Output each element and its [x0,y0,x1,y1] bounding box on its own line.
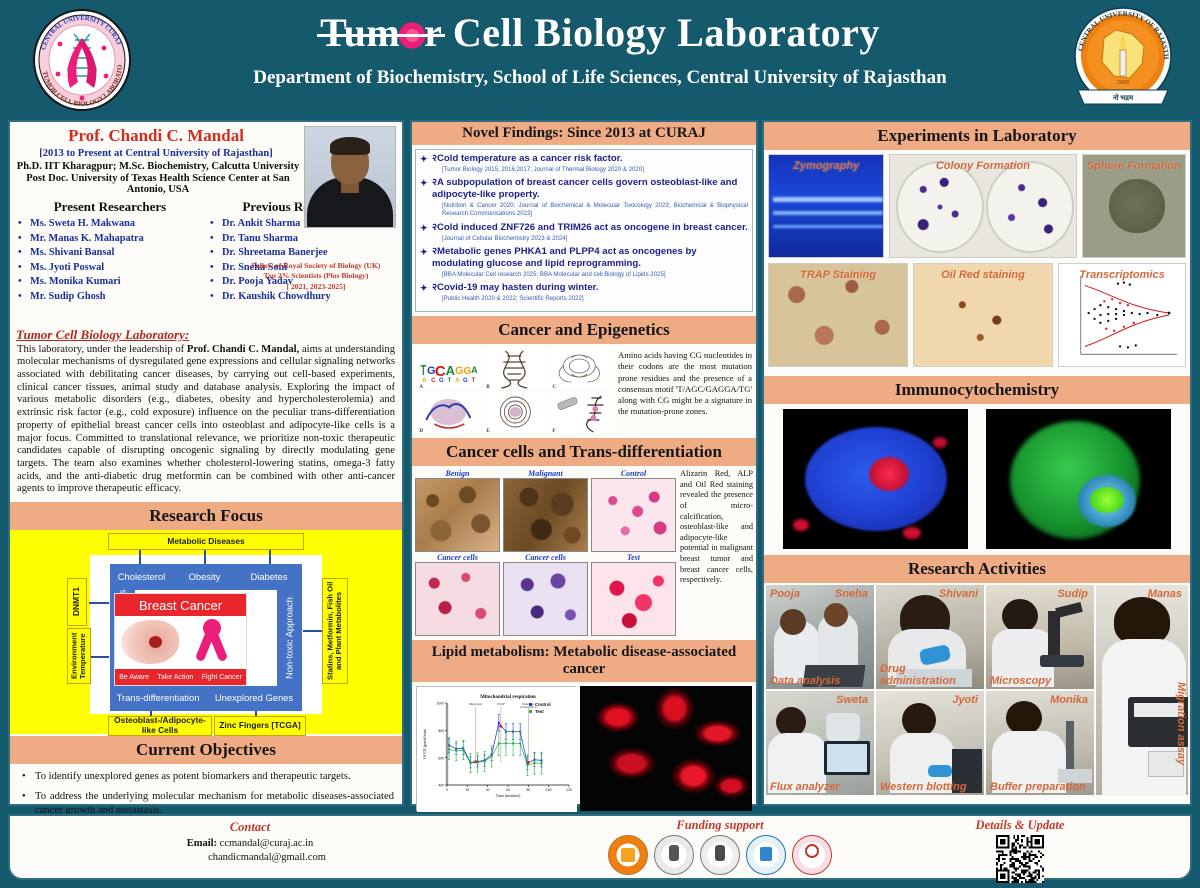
figure-dna-helix: B [483,348,548,390]
activity-label: Flux analyzer [770,781,840,793]
rf-metabolic-diseases: Metabolic Diseases [108,533,304,550]
svg-text:0: 0 [446,788,448,792]
research-focus-band: Research Focus [10,502,402,530]
update-block: Details & Update [890,818,1150,883]
trans-differentiation-body: Benign Malignant Control [412,466,756,640]
activity-photo-microscopy: Sudip Microscopy [986,585,1094,689]
svg-text:2009: 2009 [1117,80,1129,86]
title-pre: Tum [320,10,400,55]
icmr-seal-icon [746,835,786,875]
breast-cancer-card: Breast Cancer Be Aware Take Action Fight… [114,593,247,686]
current-objectives-band: Current Objectives [10,736,402,764]
fellow-line-3: [ 2021, 2023-2025] [236,282,396,293]
researcher-name: Monika [1050,694,1088,706]
funding-block: Funding support [570,818,870,875]
tag-fight-cancer: Fight Cancer [202,674,242,681]
finding-citation: [BBA Molecular Cell research 2025; BBA M… [420,271,748,279]
svg-text:Control: Control [535,702,551,707]
novel-findings-box: ✦Cold temperature as a cancer risk facto… [415,149,753,312]
professor-photo [304,126,396,228]
poster-header: CENTRAL UNIVERSITY CURAJ TUMOR CELL BIOL… [0,0,1200,120]
research-focus-section: Research Focus Metabolic Diseases Choles… [10,502,402,734]
lipid-metabolism-body: Mitochondrial respiration400600800100002… [412,682,756,815]
funding-heading: Funding support [570,818,870,833]
stain-cancer-cells-alizarin [415,562,500,636]
list-item: ✦A subpopulation of breast cancer cells … [420,177,748,218]
experiment-label: TRAP Staining [769,269,907,281]
title-struck-word: Tum r [320,10,442,56]
activity-label: Data analysis [770,675,840,687]
stain-test-oil-red [591,562,676,636]
mitochondrial-respiration-chart: Mitochondrial respiration400600800100002… [416,686,576,811]
present-researchers: Present Researchers Ms. Sweta H. Makwana… [14,199,206,305]
svg-text:T: T [447,378,451,384]
svg-text:OCCR (pmol/min): OCCR (pmol/min) [422,728,427,759]
image-label: Benign [415,469,500,478]
finding-text: ✦Metabolic genes PHKA1 and PLPP4 act as … [420,246,748,270]
lipid-droplet-fluorescence-image [580,686,752,811]
svg-text:1000: 1000 [436,702,444,706]
trans-differentiation-band: Cancer cells and Trans-differentiation [412,438,756,466]
rf-statins-metformin: Statins, Metformin, Fish Oil and Plant M… [322,578,348,684]
svg-text:A: A [471,365,478,375]
svg-text:G: G [463,378,468,384]
list-item: To address the underlying molecular mech… [18,790,394,816]
list-item: Dr. Tanu Sharma [206,232,398,247]
rf-diabetes: Diabetes [236,564,302,590]
page-title: Tum r Cell Biology Laboratory [160,10,1040,56]
experiment-colony-formation: Colony Formation [889,154,1076,258]
ugc-seal-icon [792,835,832,875]
professor-block: Prof. Chandi C. Mandal [2013 to Present … [10,122,402,195]
experiment-label: Colony Formation [890,160,1075,172]
stain-cancer-cells-alp [503,562,588,636]
breast-cancer-tags: Be Aware Take Action Fight Cancer [115,669,246,685]
svg-text:A: A [419,385,423,390]
svg-text:800: 800 [438,729,444,733]
finding-citation: [Journal of Cellular Biochemistry 2023 &… [420,235,748,243]
finding-text: ✦Cold induced ZNF726 and TRIM26 act as o… [420,222,748,234]
novel-findings-band: Novel Findings: Since 2013 at CURAJ [412,122,756,145]
list-item: Ms. Shivani Bansal [14,246,206,261]
svg-text:G: G [439,378,444,384]
qr-code[interactable] [996,835,1044,883]
svg-text:C: C [553,385,557,390]
svg-text:नो भद्रम: नो भद्रम [1112,93,1134,102]
immunocytochemistry-band: Immunocytochemistry [764,376,1190,404]
list-item: Ms. Monika Kumari [14,275,206,290]
activity-photo-flux-analyzer: Sweta Flux analyzer [766,691,874,795]
svg-text:400: 400 [438,784,444,788]
svg-text:Mitochondrial respiration: Mitochondrial respiration [480,695,536,700]
rf-trans-differentiation: Trans-differentiation [110,686,206,711]
figure-sequence-logo: T G C A G G A A C G T A [416,348,481,390]
activity-photo-migration-assay: Manas Migration assay [1096,585,1188,795]
lab-heading: Tumor Cell Biology Laboratory: [16,327,396,343]
svg-text:Test: Test [535,709,544,714]
finding-text: ✦Covid-19 may hasten during winter. [420,282,748,294]
svg-text:40: 40 [486,788,490,792]
epigenetics-description: Amino acids having CG nucleotides in the… [618,348,752,434]
list-item: Mr. Manas K. Mahapatra [14,232,206,247]
svg-text:Time (minutes): Time (minutes) [496,793,521,798]
experiment-oil-red-staining: Oil Red staining [913,263,1053,367]
rf-unexplored-genes: Unexplored Genes [206,686,302,711]
image-label: Control [591,469,676,478]
contact-block: Contact Email: ccmandal@curaj.ac.in chan… [130,820,370,863]
list-item: Mr. Sudip Ghosh [14,290,206,305]
curaj-seal-icon [608,835,648,875]
experiments-band: Experiments in Laboratory [764,122,1190,150]
figure-protein-structure-c: C [549,348,614,390]
activity-photo-western-blotting: Jyoti Western blotting [876,691,984,795]
title-post: r [424,10,442,55]
rf-zinc-fingers: Zinc Fingers [TCGA] [214,716,306,736]
experiment-trap-staining: TRAP Staining [768,263,908,367]
figure-dna-binding-f: F [549,392,614,434]
list-item: Dr. Ankit Sharma [206,217,398,232]
tag-be-aware: Be Aware [119,674,149,681]
icc-image-dapi-nucleus [783,409,968,549]
image-label: Test [591,553,676,562]
image-label: Cancer cells [503,553,588,562]
list-item: To identify unexplored genes as potent b… [18,770,394,783]
svg-text:60: 60 [506,788,510,792]
tumor-cell-biology-laboratory-logo: CENTRAL UNIVERSITY CURAJ TUMOR CELL BIOL… [30,8,135,113]
diamond-bullet-icon: ✦ [420,223,428,234]
activity-label: Buffer preparation [990,781,1086,793]
breast-cancer-title: Breast Cancer [115,594,246,616]
researcher-name: Sudip [1057,588,1088,600]
lab-description: This laboratory, under the leadership of… [17,344,395,496]
image-label: Cancer cells [415,553,500,562]
immunocytochemistry-body [764,404,1190,555]
column-middle: Novel Findings: Since 2013 at CURAJ ✦Col… [410,120,758,806]
experiment-label: Zymography [769,160,883,172]
list-item: ✦Cold induced ZNF726 and TRIM26 act as o… [420,222,748,243]
experiment-transcriptomics: Transcriptomics [1058,263,1186,367]
column-right: Experiments in Laboratory Zymography Col… [762,120,1192,806]
icc-image-gfp-cytoplasm [986,409,1171,549]
svg-text:100: 100 [546,788,552,792]
svg-text:20: 20 [465,788,469,792]
diamond-bullet-icon: ✦ [420,178,428,189]
epigenetics-figure-grid: T G C A G G A A C G T A [416,348,614,434]
pink-ribbon-icon [190,618,232,668]
activity-label: Drug administration [880,663,984,687]
svg-text:FCCP: FCCP [497,702,505,706]
finding-text: ✦Cold temperature as a cancer risk facto… [420,153,748,165]
svg-text:600: 600 [438,756,444,760]
svg-text:Oligomycin: Oligomycin [469,702,483,706]
list-item: Ms. Jyoti Poswal [14,261,206,276]
rf-obesity: Obesity [173,564,236,590]
svg-text:G: G [455,365,464,377]
researcher-name: Jyoti [952,694,978,706]
experiment-label: Oil Red staining [914,269,1052,281]
poster-root: CENTRAL UNIVERSITY CURAJ TUMOR CELL BIOL… [0,0,1200,887]
contact-heading: Contact [130,820,370,835]
lab-desc-part1: This laboratory, under the leadership of [17,344,187,355]
activity-photo-data-analysis: Pooja Sneha Data analysis [766,585,874,689]
rf-cholesterol: Cholesterol [110,564,173,590]
svg-text:T: T [421,362,427,379]
central-university-of-rajasthan-logo: CENTRAL UNIVERSITY OF RAJASTHAN 2009 नो … [1068,4,1178,116]
contact-email-2[interactable]: chandicmandal@gmail.com [130,852,370,863]
lipid-metabolism-band: Lipid metabolism: Metabolic disease-asso… [412,640,756,682]
list-item: ✦Metabolic genes PHKA1 and PLPP4 act as … [420,246,748,279]
cancer-epigenetics-body: T G C A G G A A C G T A [412,344,756,438]
list-item: ✦Covid-19 may hasten during winter. [Pub… [420,282,748,303]
activity-label: Microscopy [990,675,1051,687]
dst-seal-icon [654,835,694,875]
rf-non-toxic-approach: Non-toxic Approach [277,590,302,686]
finding-citation: [Public Health 2020 & 2022; Scientific R… [420,295,748,303]
histology-malignant [503,478,588,552]
dbt-seal-icon [700,835,740,875]
histology-benign [415,478,500,552]
researcher-name: Sneha [835,588,868,600]
rf-dnmt1: DNMT1 [67,578,87,626]
lab-desc-bold: Prof. Chandi C. Mandal, [187,344,299,355]
activity-photo-buffer-preparation: Monika Buffer preparation [986,691,1094,795]
activity-label: Migration assay [1175,682,1187,765]
figure-protein-structure-d: D [416,392,481,434]
breast-cancer-illustration [115,616,246,669]
lab-desc-part2: aims at understanding molecular mechanis… [17,344,395,495]
fellow-line-1: Fellow of Royal Society of Biology (UK) [236,261,396,272]
experiment-label: Sphere Formation [1083,160,1185,172]
poster-columns: Prof. Chandi C. Mandal [2013 to Present … [0,120,1200,810]
activity-photo-drug-administration: Shivani Drug administration [876,585,984,689]
rf-osteoblast-adipocyte: Osteoblast-/Adipocyte-like Cells [108,716,212,736]
research-focus-diagram: Metabolic Diseases Cholesterol Obesity D… [10,530,402,734]
figure-nucleosome-e: E [483,392,548,434]
svg-text:F: F [553,429,556,434]
header-titles: Tum r Cell Biology Laboratory Department… [160,10,1040,89]
email-value-1[interactable]: ccmandal@curaj.ac.in [220,838,314,849]
diamond-bullet-icon: ✦ [420,247,428,258]
experiment-zymography: Zymography [768,154,884,258]
svg-text:A: A [422,378,427,384]
trans-differentiation-description: Alizarin Red, ALP and Oil Red staining r… [680,469,753,637]
svg-text:T: T [471,378,475,384]
funding-logos [570,835,870,875]
tag-take-action: Take Action [157,674,193,681]
image-label: Malignant [503,469,588,478]
contact-email-1: Email: ccmandal@curaj.ac.in [130,838,370,849]
list-item: Ms. Sweta H. Makwana [14,217,206,232]
svg-text:A: A [455,378,460,384]
poster-footer: Contact Email: ccmandal@curaj.ac.in chan… [8,814,1192,880]
activity-label: Western blotting [880,781,967,793]
svg-text:D: D [419,429,423,434]
strikethrough-bar [317,34,445,37]
fellow-line-2: Top 2% Scientists (Plos Biology) [236,271,396,282]
list-item: Dr. Shreetama Banerjee [206,246,398,261]
column-left: Prof. Chandi C. Mandal [2013 to Present … [8,120,404,806]
fellow-credentials: Fellow of Royal Society of Biology (UK) … [236,261,396,293]
cancer-epigenetics-band: Cancer and Epigenetics [412,316,756,344]
finding-citation: [Tumor Biology 2015, 2016,2017; Journal … [420,166,748,174]
research-activities-band: Research Activities [764,555,1190,583]
svg-text:120: 120 [566,788,572,792]
lab-heading-text: Tumor Cell Biology Laboratory [16,327,185,342]
research-activities-grid: Pooja Sneha Data analysis Shivani Drug [764,583,1190,797]
finding-text: ✦A subpopulation of breast cancer cells … [420,177,748,201]
trans-differentiation-images: Benign Malignant Control [415,469,677,637]
page-subtitle: Department of Biochemistry, School of Li… [160,67,1040,89]
finding-citation: [Nutrition & Cancer 2020; Journal of Bio… [420,202,748,218]
experiment-label: Transcriptomics [1059,269,1185,281]
lab-heading-colon: : [185,327,189,342]
svg-text:80: 80 [526,788,530,792]
diamond-bullet-icon: ✦ [420,154,428,165]
researcher-name: Shivani [939,588,978,600]
researcher-name: Pooja [770,588,800,600]
svg-text:C: C [431,378,436,384]
present-researchers-heading: Present Researchers [14,199,206,215]
researcher-name: Manas [1148,588,1182,600]
stain-control [591,478,676,552]
rf-environment-temperature: Environment Temperature [67,628,91,684]
researcher-name: Sweta [836,694,868,706]
diamond-bullet-icon: ✦ [420,283,428,294]
update-heading: Details & Update [890,818,1150,833]
experiment-sphere-formation: Sphere Formation [1082,154,1186,258]
list-item: ✦Cold temperature as a cancer risk facto… [420,153,748,174]
email-label: Email: [187,838,217,849]
title-rest: Cell Biology Laboratory [442,10,880,55]
experiments-grid: Zymography Colony Formation Sphere Forma… [764,150,1190,376]
